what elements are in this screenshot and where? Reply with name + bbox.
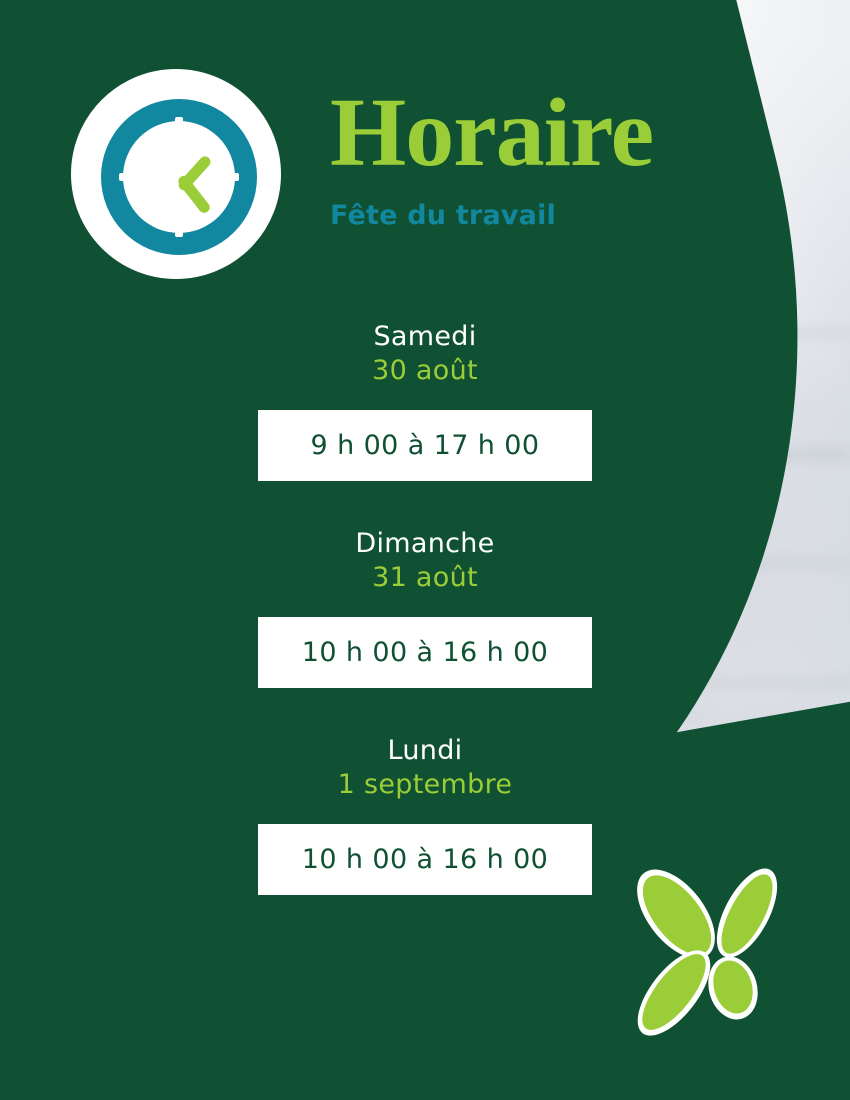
schedule-hours: 9 h 00 à 17 h 00 (256, 408, 594, 483)
schedule-card-header: Samedi 30 août (256, 298, 594, 408)
schedule-day: Dimanche (266, 527, 584, 561)
schedule-hours: 10 h 00 à 16 h 00 (256, 822, 594, 897)
petal-top-right (705, 859, 790, 966)
clock-tick-9 (119, 173, 137, 181)
petal-bottom-left (624, 939, 723, 1048)
schedule-date: 1 septembre (266, 768, 584, 802)
clock-ring (101, 99, 257, 255)
petal-top-left (622, 856, 730, 972)
schedule-day: Lundi (266, 734, 584, 768)
clock-face (123, 121, 235, 233)
petal-bottom-right (701, 951, 765, 1026)
schedule-hours: 10 h 00 à 16 h 00 (256, 615, 594, 690)
page-title: Horaire (330, 84, 800, 182)
clock-icon (68, 66, 284, 282)
clock-tick-6 (175, 219, 183, 237)
schedule-list: Samedi 30 août 9 h 00 à 17 h 00 Dimanche… (256, 298, 594, 919)
page-subtitle: Fête du travail (330, 200, 800, 231)
schedule-day: Samedi (266, 320, 584, 354)
clock-tick-12 (175, 117, 183, 135)
butterfly-leaf-logo (614, 856, 814, 1056)
schedule-card-header: Lundi 1 septembre (256, 712, 594, 822)
schedule-card: Dimanche 31 août 10 h 00 à 16 h 00 (256, 505, 594, 690)
schedule-card: Lundi 1 septembre 10 h 00 à 16 h 00 (256, 712, 594, 897)
poster-header: Horaire Fête du travail (330, 84, 800, 231)
schedule-date: 31 août (266, 561, 584, 595)
schedule-poster: Horaire Fête du travail Samedi 30 août 9… (0, 0, 850, 1100)
schedule-card: Samedi 30 août 9 h 00 à 17 h 00 (256, 298, 594, 483)
schedule-date: 30 août (266, 354, 584, 388)
clock-tick-3 (221, 173, 239, 181)
schedule-card-header: Dimanche 31 août (256, 505, 594, 615)
